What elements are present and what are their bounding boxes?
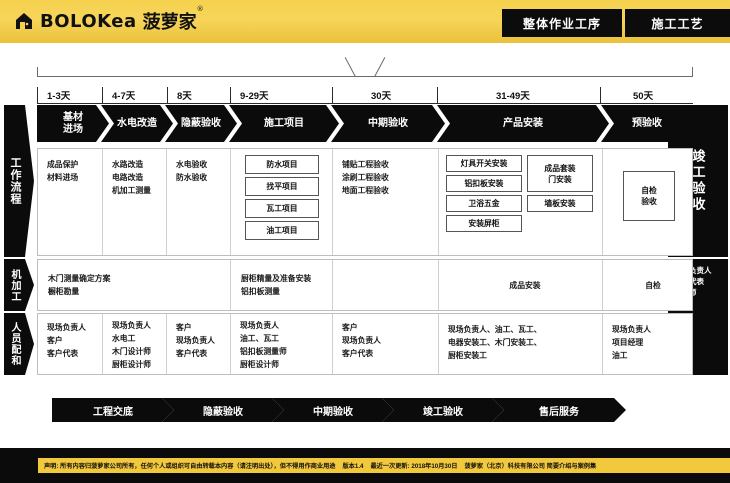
personnel-6-line-2: 电器安装工、木门安装工、 (448, 336, 602, 349)
day-label-7: 50天 (600, 87, 693, 103)
personnel-6-line-3: 厨柜安装工 (448, 349, 602, 362)
day-label-2: 4-7天 (102, 87, 167, 103)
footer-updated: 最近一次更新: 2018年10月30日 (370, 461, 457, 470)
machining-cell-1: 木门测量确定方案 橱柜勘量 (38, 260, 230, 310)
machining-cell-2-text: 厨柜精量及准备安装 铝扣板测量 (231, 260, 332, 310)
workflow-6-box-5-line1: 成品套装 (544, 163, 575, 174)
workflow-cell-3: 水电验收 防水验收 (166, 149, 230, 255)
sidebar-label-machining: 机加工 (4, 259, 34, 311)
personnel-cell-7: 现场负责人 项目经理 油工 (602, 314, 694, 374)
logo-wordmark: BOLOKea (40, 11, 137, 32)
page-footer: 声明: 所有内容归菠萝家公司所有，任何个人或组织可自由转载本内容（请注明出处），… (0, 448, 730, 483)
machining-cell-2: 厨柜精量及准备安装 铝扣板测量 (230, 260, 332, 310)
personnel-6-line-1: 现场负责人、油工、瓦工、 (448, 323, 602, 336)
personnel-cell-7-text: 现场负责人 项目经理 油工 (603, 314, 694, 362)
day-label-6: 31-49天 (437, 87, 600, 103)
personnel-cell-6: 现场负责人、油工、瓦工、 电器安装工、木门安装工、 厨柜安装工 (438, 314, 602, 374)
machining-2-line-1: 厨柜精量及准备安装 (241, 272, 332, 285)
workflow-6-box-5-line2: 门安装 (548, 174, 571, 185)
tab-overall-process[interactable]: 整体作业工序 (502, 9, 622, 37)
personnel-cell-4-text: 现场负责人 油工、瓦工 铝扣板测量师 厨柜设计师 (231, 314, 332, 371)
machining-cell-5-text: 自检 (603, 260, 694, 310)
workflow-7-box-1-line2: 验收 (641, 196, 657, 207)
personnel-cell-6-text: 现场负责人、油工、瓦工、 电器安装工、木门安装工、 厨柜安装工 (439, 314, 602, 362)
workflow-cell-3-text: 水电验收 防水验收 (167, 149, 230, 184)
personnel-cell-5-text: 客户 现场负责人 客户代表 (333, 314, 438, 360)
stage-chevron-5[interactable]: 中期验收 (331, 105, 445, 142)
personnel-7-line-3: 油工 (612, 349, 694, 362)
workflow-4-box-4[interactable]: 油工项目 (245, 221, 319, 240)
app-header: BOLOKea 菠萝家 ® 整体作业工序 施工工艺 (0, 0, 730, 43)
personnel-1-line-1: 现场负责人 (47, 321, 102, 334)
machining-cell-5: 自检 (602, 260, 694, 310)
personnel-4-line-4: 厨柜设计师 (240, 358, 332, 371)
stage-chevron-3[interactable]: 隐蔽验收 (165, 105, 237, 142)
footer-version: 版本1.4 (343, 461, 364, 470)
workflow-cell-5-text: 铺贴工程验收 涂刷工程验收 地面工程验收 (333, 149, 438, 197)
sidebar-label-machining-text: 机加工 (7, 269, 22, 302)
personnel-cell-2-text: 现场负责人 水电工 木门设计师 厨柜设计师 (103, 314, 166, 371)
workflow-cell-7: 自检 验收 (602, 149, 694, 255)
day-label-4: 9-29天 (230, 87, 332, 103)
personnel-3-line-2: 现场负责人 (176, 334, 230, 347)
workflow-4-box-1[interactable]: 防水项目 (245, 155, 319, 174)
personnel-7-line-2: 项目经理 (612, 336, 694, 349)
workflow-cell-1-text: 成品保护 材料进场 (38, 149, 102, 184)
workflow-5-line-1: 铺贴工程验收 (342, 158, 438, 171)
sidebar-label-personnel-text: 人员配和 (7, 322, 22, 366)
personnel-1-line-3: 客户代表 (47, 347, 102, 360)
machining-2-line-2: 铝扣板测量 (241, 285, 332, 298)
personnel-2-line-4: 厨柜设计师 (112, 358, 166, 371)
machining-row: 木门测量确定方案 橱柜勘量 厨柜精量及准备安装 铝扣板测量 成品安装 自检 (37, 259, 693, 311)
workflow-7-box-list: 自检 验收 (623, 171, 675, 221)
stage-chevron-1[interactable]: 基材 进场 (37, 105, 109, 142)
workflow-6-box-1[interactable]: 灯具开关安装 (446, 155, 522, 172)
machining-1-line-1: 木门测量确定方案 (48, 272, 230, 285)
personnel-cell-4: 现场负责人 油工、瓦工 铝扣板测量师 厨柜设计师 (230, 314, 332, 374)
personnel-2-line-1: 现场负责人 (112, 319, 166, 332)
stage-1-line2: 进场 (63, 124, 83, 136)
registered-mark-icon: ® (197, 5, 204, 13)
machining-cell-4: 成品安装 (438, 260, 602, 310)
bracket-right-leg (692, 67, 693, 77)
bracket-peak-icon (352, 56, 378, 77)
workflow-6-box-6[interactable]: 墙板安装 (527, 195, 593, 212)
personnel-5-line-2: 现场负责人 (342, 334, 438, 347)
personnel-4-line-1: 现场负责人 (240, 319, 332, 332)
personnel-7-line-1: 现场负责人 (612, 323, 694, 336)
machining-cell-3 (332, 260, 438, 310)
personnel-cell-3-text: 客户 现场负责人 客户代表 (167, 314, 230, 360)
timeline-day-labels: 1-3天 4-7天 8天 9-29天 30天 31-49天 50天 (37, 87, 693, 103)
days-underline (37, 103, 693, 104)
workflow-3-line-1: 水电验收 (176, 158, 230, 171)
workflow-5-line-2: 涂刷工程验收 (342, 171, 438, 184)
personnel-row: 现场负责人 客户 客户代表 现场负责人 水电工 木门设计师 厨柜设计师 客户 现… (37, 313, 693, 375)
personnel-5-line-1: 客户 (342, 321, 438, 334)
timeline-bracket (37, 55, 693, 77)
personnel-3-line-3: 客户代表 (176, 347, 230, 360)
house-icon (14, 11, 34, 31)
workflow-7-box-1-line1: 自检 (641, 185, 657, 196)
personnel-cell-1-text: 现场负责人 客户 客户代表 (38, 314, 102, 360)
personnel-2-line-2: 水电工 (112, 332, 166, 345)
footer-disclaimer-bar: 声明: 所有内容归菠萝家公司所有，任何个人或组织可自由转载本内容（请注明出处），… (38, 458, 730, 473)
workflow-cell-2-text: 水路改造 电路改造 机加工测量 (103, 149, 166, 197)
machining-cell-1-text: 木门测量确定方案 橱柜勘量 (38, 260, 230, 310)
workflow-4-box-3[interactable]: 瓦工项目 (245, 199, 319, 218)
workflow-row: 成品保护 材料进场 水路改造 电路改造 机加工测量 水电验收 防水验收 (37, 148, 693, 256)
sidebar-label-workflow-text: 工作流程 (7, 157, 22, 205)
personnel-4-line-3: 铝扣板测量师 (240, 345, 332, 358)
personnel-3-line-1: 客户 (176, 321, 230, 334)
machining-5-line-1: 自检 (645, 279, 661, 292)
personnel-1-line-2: 客户 (47, 334, 102, 347)
workflow-infographic-page: BOLOKea 菠萝家 ® 整体作业工序 施工工艺 1-3天 4-7天 8天 9… (0, 0, 730, 483)
day-label-1: 1-3天 (37, 87, 102, 103)
footer-disclaimer-text: 声明: 所有内容归菠萝家公司所有，任何个人或组织可自由转载本内容（请注明出处），… (44, 461, 336, 470)
workflow-1-line-1: 成品保护 (47, 158, 102, 171)
milestone-2[interactable]: 隐蔽验收 (162, 398, 284, 422)
personnel-4-line-2: 油工、瓦工 (240, 332, 332, 345)
stage-chevron-2[interactable]: 水电改造 (101, 105, 173, 142)
timeline-stages: 基材 进场 水电改造 隐蔽验收 施工项目 中期验收 产品安装 预验收 (37, 105, 693, 142)
workflow-2-line-2: 电路改造 (112, 171, 166, 184)
diagram-canvas: 1-3天 4-7天 8天 9-29天 30天 31-49天 50天 基材 进场 … (0, 43, 730, 448)
personnel-cell-3: 客户 现场负责人 客户代表 (166, 314, 230, 374)
workflow-cell-4: 防水项目 找平项目 瓦工项目 油工项目 (230, 149, 332, 255)
machining-4-line-1: 成品安装 (509, 279, 540, 292)
machining-cell-4-text: 成品安装 (439, 260, 602, 310)
personnel-2-line-3: 木门设计师 (112, 345, 166, 358)
sidebar-label-personnel: 人员配和 (4, 313, 34, 375)
day-label-3: 8天 (167, 87, 230, 103)
workflow-7-box-1[interactable]: 自检 验收 (623, 171, 675, 221)
tab-construction-technique[interactable]: 施工工艺 (625, 9, 730, 37)
personnel-cell-1: 现场负责人 客户 客户代表 (38, 314, 102, 374)
brand-logo: BOLOKea 菠萝家 ® (14, 8, 197, 34)
workflow-4-box-2[interactable]: 找平项目 (245, 177, 319, 196)
workflow-6-box-col1: 灯具开关安装 铝扣板安装 卫浴五金 安装屏柜 (446, 155, 522, 232)
personnel-cell-5: 客户 现场负责人 客户代表 (332, 314, 438, 374)
bracket-left-leg (37, 67, 38, 77)
workflow-6-box-4[interactable]: 安装屏柜 (446, 215, 522, 232)
workflow-cell-1: 成品保护 材料进场 (38, 149, 102, 255)
workflow-1-line-2: 材料进场 (47, 171, 102, 184)
workflow-6-box-col2: 成品套装 门安装 墙板安装 (527, 155, 593, 212)
milestone-3[interactable]: 中期验收 (272, 398, 394, 422)
personnel-5-line-3: 客户代表 (342, 347, 438, 360)
stage-1-line1: 基材 (63, 112, 83, 124)
stage-chevron-6[interactable]: 产品安装 (437, 105, 609, 142)
stage-chevron-4[interactable]: 施工项目 (229, 105, 339, 142)
workflow-3-line-2: 防水验收 (176, 171, 230, 184)
milestone-4[interactable]: 竣工验收 (382, 398, 504, 422)
logo-chinese-name: 菠萝家 ® (143, 8, 197, 34)
workflow-cell-6: 灯具开关安装 铝扣板安装 卫浴五金 安装屏柜 成品套装 门安装 墙板安装 (438, 149, 602, 255)
header-tabs: 整体作业工序 施工工艺 (502, 9, 730, 37)
milestone-1[interactable]: 工程交底 (52, 398, 174, 422)
workflow-6-box-5[interactable]: 成品套装 门安装 (527, 155, 593, 192)
footer-company: 菠萝家（北京）科技有限公司 简要介绍与案例集 (464, 461, 596, 470)
sidebar-label-workflow: 工作流程 (4, 105, 34, 257)
workflow-cell-2: 水路改造 电路改造 机加工测量 (102, 149, 166, 255)
workflow-5-line-3: 地面工程验收 (342, 184, 438, 197)
workflow-2-line-1: 水路改造 (112, 158, 166, 171)
day-label-5: 30天 (332, 87, 437, 103)
workflow-6-box-2[interactable]: 铝扣板安装 (446, 175, 522, 192)
logo-cn-text: 菠萝家 (143, 12, 197, 33)
personnel-cell-2: 现场负责人 水电工 木门设计师 厨柜设计师 (102, 314, 166, 374)
milestone-chevrons: 工程交底 隐蔽验收 中期验收 竣工验收 售后服务 (52, 398, 632, 422)
milestone-5[interactable]: 售后服务 (492, 398, 626, 422)
workflow-4-box-list: 防水项目 找平项目 瓦工项目 油工项目 (245, 155, 319, 240)
workflow-cell-5: 铺贴工程验收 涂刷工程验收 地面工程验收 (332, 149, 438, 255)
machining-1-line-2: 橱柜勘量 (48, 285, 230, 298)
workflow-2-line-3: 机加工测量 (112, 184, 166, 197)
workflow-6-box-3[interactable]: 卫浴五金 (446, 195, 522, 212)
